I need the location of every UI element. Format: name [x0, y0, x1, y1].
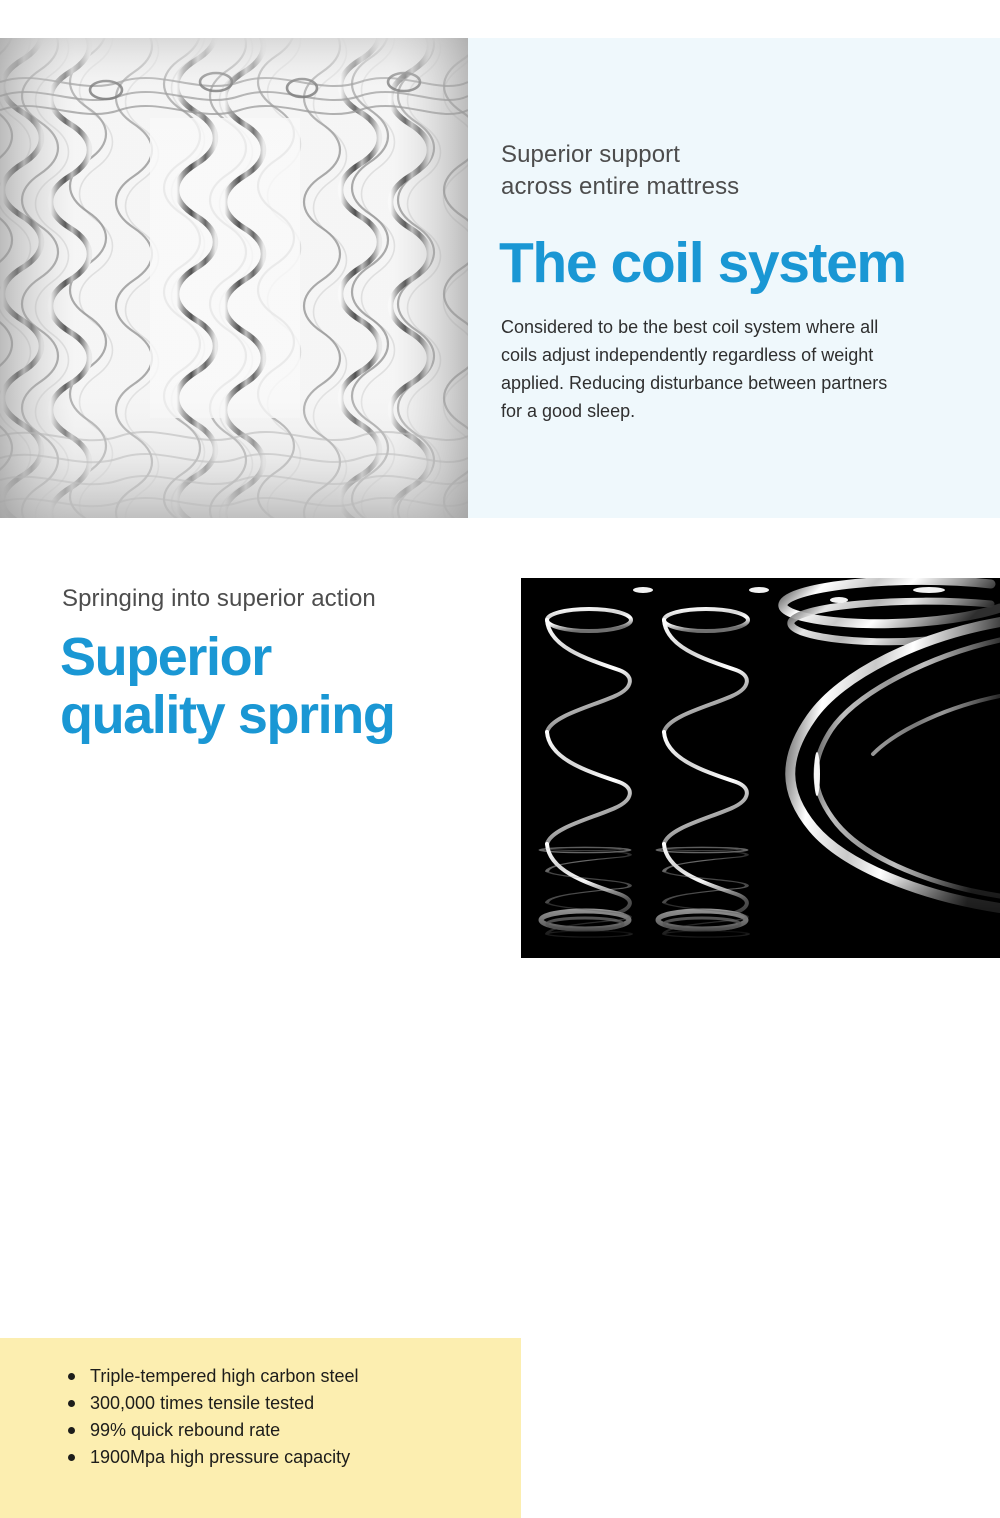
quality-spring-headline-line-1: Superior — [60, 628, 500, 686]
coil-system-copy-panel: Superior support across entire mattress … — [468, 38, 1000, 518]
spec-text: 99% quick rebound rate — [90, 1420, 280, 1440]
coil-system-description: Considered to be the best coil system wh… — [501, 313, 901, 425]
list-item: 99% quick rebound rate — [62, 1417, 482, 1443]
spec-text: 1900Mpa high pressure capacity — [90, 1447, 350, 1467]
bullet-icon — [68, 1427, 75, 1434]
list-item: 1900Mpa high pressure capacity — [62, 1444, 482, 1470]
product-feature-page: Superior support across entire mattress … — [0, 0, 1000, 1000]
list-item: Triple-tempered high carbon steel — [62, 1363, 482, 1389]
bullet-icon — [68, 1400, 75, 1407]
spec-text: Triple-tempered high carbon steel — [90, 1366, 358, 1386]
coil-system-kicker: Superior support across entire mattress — [501, 139, 941, 203]
coil-system-kicker-line-1: Superior support — [501, 139, 941, 171]
quality-spring-headline: Superior quality spring — [60, 628, 500, 744]
spec-text: 300,000 times tensile tested — [90, 1393, 314, 1413]
coil-spring-array-photo — [0, 38, 468, 518]
bullet-icon — [68, 1373, 75, 1380]
bullet-icon — [68, 1454, 75, 1461]
quality-spring-kicker: Springing into superior action — [62, 583, 502, 615]
spring-spec-list: Triple-tempered high carbon steel 300,00… — [62, 1363, 482, 1471]
quality-spring-headline-line-2: quality spring — [60, 686, 500, 744]
pocket-spring-black-photo — [521, 578, 1000, 958]
coil-system-headline: The coil system — [499, 230, 906, 296]
quality-spring-copy-panel: Triple-tempered high carbon steel 300,00… — [0, 560, 521, 958]
coil-system-kicker-line-2: across entire mattress — [501, 171, 941, 203]
list-item: 300,000 times tensile tested — [62, 1390, 482, 1416]
